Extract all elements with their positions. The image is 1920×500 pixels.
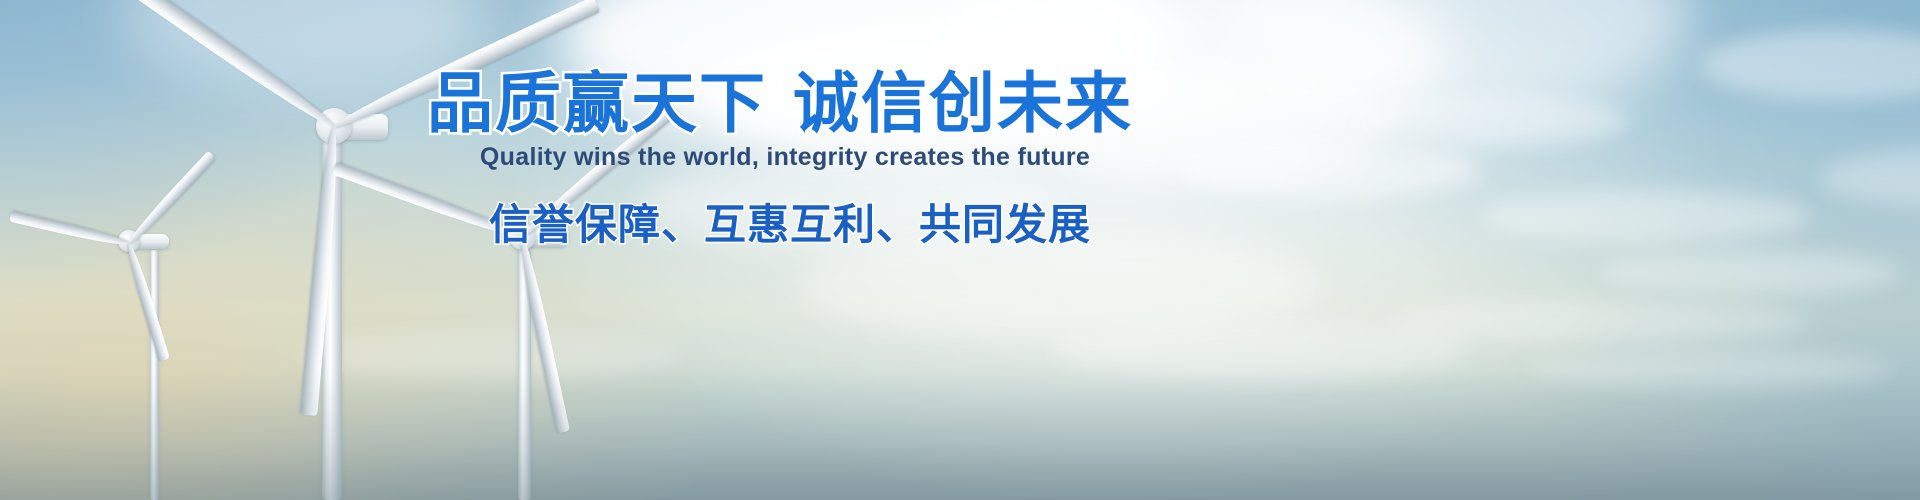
hero-banner: 品质赢天下诚信创未来 Quality wins the world, integ… [0, 0, 1920, 500]
bottom-vignette [0, 370, 1920, 500]
